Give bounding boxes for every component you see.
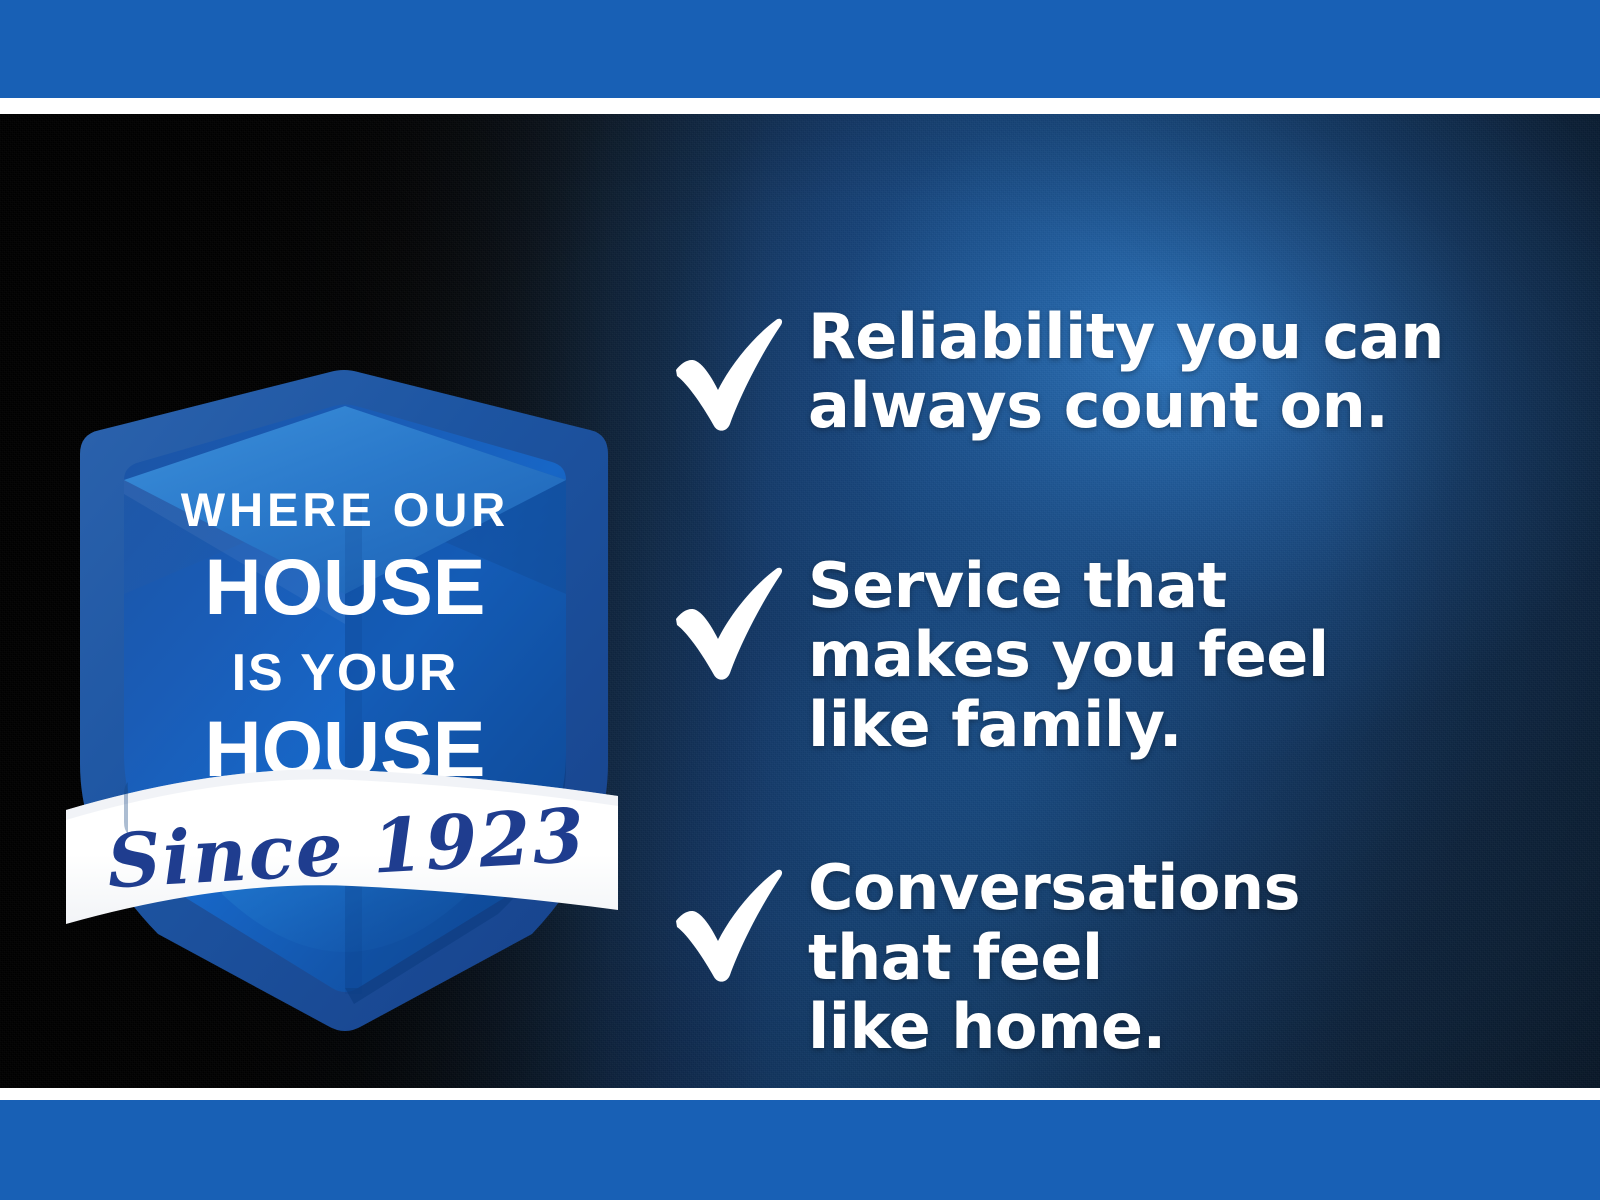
value-point-line-3: like family.	[808, 690, 1488, 759]
shield-tagline-line-3: IS YOUR	[232, 644, 459, 702]
shield-tagline-line-2: HOUSE	[205, 542, 486, 631]
value-point-conversations: Conversations that feel like home.	[668, 851, 1488, 1061]
main-panel: WHERE OUR HOUSE IS YOUR HOUSE Since 1923	[0, 114, 1600, 1088]
value-point-line-1: Service that	[808, 551, 1488, 620]
promo-graphic: WHERE OUR HOUSE IS YOUR HOUSE Since 1923	[0, 0, 1600, 1200]
value-point-text: Service that makes you feel like family.	[808, 549, 1488, 759]
value-point-line-1: Conversations	[808, 853, 1488, 922]
checkmark-icon	[668, 300, 808, 438]
value-point-line-2: makes you feel	[808, 620, 1488, 689]
value-point-line-1: Reliability you can	[808, 302, 1488, 371]
value-point-text: Conversations that feel like home.	[808, 851, 1488, 1061]
shield-tagline-line-1: WHERE OUR	[181, 483, 509, 536]
value-points-list: Reliability you can always count on. Ser…	[668, 300, 1488, 1062]
value-point-line-2: that feel	[808, 923, 1488, 992]
value-point-line-3: like home.	[808, 992, 1488, 1061]
top-brand-bar	[0, 0, 1600, 98]
bottom-brand-bar	[0, 1100, 1600, 1200]
shield-badge: WHERE OUR HOUSE IS YOUR HOUSE Since 1923	[62, 294, 622, 1054]
value-point-text: Reliability you can always count on.	[808, 300, 1488, 441]
value-point-service: Service that makes you feel like family.	[668, 549, 1488, 759]
value-point-reliability: Reliability you can always count on.	[668, 300, 1488, 441]
checkmark-icon	[668, 549, 808, 687]
checkmark-icon	[668, 851, 808, 989]
value-point-line-2: always count on.	[808, 371, 1488, 440]
